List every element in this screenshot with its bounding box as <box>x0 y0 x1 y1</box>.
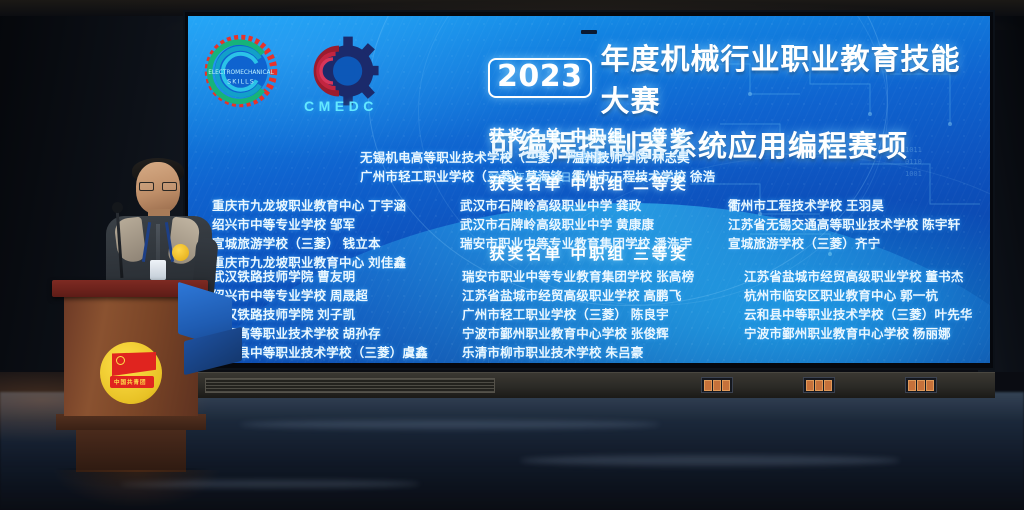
podium-foot <box>76 428 186 472</box>
award-row: 武汉铁路技师学院 曹友明 瑞安市职业中等专业教育集团学校 张高榜 江苏省盐城市经… <box>188 268 990 287</box>
award-entry: 云和县中等职业技术学校（三菱）叶先华 <box>744 306 973 325</box>
award-entry: 无锡机电高等职业技术学校（三菱） 严梓豪 <box>360 149 572 168</box>
microphone-head-icon <box>112 202 123 213</box>
led-screen: 101101101001 ELECTROMECHANICAL <box>188 16 990 363</box>
screen-content: ELECTROMECHANICAL SKILLS <box>188 16 990 363</box>
emblem-name-bar: 中国共青团 <box>110 376 154 388</box>
award-row: 绍兴市中等专业学校 邹军 武汉市石牌岭高级职业中学 黄康康 江苏省无锡交通高等职… <box>188 216 990 235</box>
award-entry: 温州技师学院 林志昊 <box>572 149 772 168</box>
award-entry: 武汉市石牌岭高级职业中学 黄康康 <box>460 216 728 235</box>
year-badge: 2023 <box>488 58 592 98</box>
award-row: 重庆市九龙坡职业教育中心 丁宇涵 武汉市石牌岭高级职业中学 龚政 衢州市工程技术… <box>188 197 990 216</box>
award-entry: 江苏省无锡交通高等职业技术学校 陈宇轩 <box>728 216 960 235</box>
vest-logo-icon <box>172 244 189 261</box>
award-entry: 镇江高等职业技术学校 胡孙存 <box>212 325 462 344</box>
communist-youth-league-emblem: 中国共青团 <box>100 342 162 404</box>
award-entry: 武汉铁路技师学院 曹友明 <box>212 268 462 287</box>
award-row: 武汉铁路技师学院 刘子凯 广州市轻工职业学校（三菱） 陈良宇 云和县中等职业技术… <box>188 306 990 325</box>
award-entry: 瑞安市职业中等专业教育集团学校 张高榜 <box>462 268 744 287</box>
logo-text-line1: ELECTROMECHANICAL <box>208 70 274 76</box>
emblem-text: 中国共青团 <box>114 378 147 386</box>
under-screen-equipment-panel <box>183 372 995 398</box>
power-socket <box>803 377 835 393</box>
award-heading-third: 获奖名单 中职组 三等奖 <box>188 242 990 264</box>
award-row: 云和县中等职业技术学校（三菱）虞鑫 乐清市柳市职业技术学校 朱吕豪 <box>188 344 990 363</box>
award-entry: 重庆市九龙坡职业教育中心 丁宇涵 <box>212 197 460 216</box>
award-heading-first: 获奖名单 中职组 一等奖 <box>188 124 990 146</box>
award-rows-third: 武汉铁路技师学院 曹友明 瑞安市职业中等专业教育集团学校 张高榜 江苏省盐城市经… <box>188 268 990 363</box>
award-entry: 宁波市鄞州职业教育中心学校 杨丽娜 <box>744 325 951 344</box>
award-entry: 衢州市工程技术学校 王羽昊 <box>728 197 884 216</box>
logo-text-line2: SKILLS <box>227 78 255 85</box>
auditorium-scene: 101101101001 ELECTROMECHANICAL <box>0 0 1024 510</box>
award-entry: 乐清市柳市职业技术学校 朱吕豪 <box>462 344 744 363</box>
award-entry: 杭州市临安区职业教育中心 郭一杭 <box>744 287 938 306</box>
award-entry: 绍兴市中等专业学校 邹军 <box>212 216 460 235</box>
laptop-on-podium <box>178 290 242 368</box>
award-entry: 江苏省盐城市经贸高级职业学校 董书杰 <box>744 268 964 287</box>
award-entry: 绍兴市中等专业学校 周晟超 <box>212 287 462 306</box>
award-entry: 武汉铁路技师学院 刘子凯 <box>212 306 462 325</box>
power-socket <box>701 377 733 393</box>
power-socket <box>905 377 937 393</box>
award-entry: 江苏省盐城市经贸高级职业学校 高鹏飞 <box>462 287 744 306</box>
glasses-icon <box>139 182 177 191</box>
emblem-star-icon <box>116 356 125 365</box>
award-entry: 武汉市石牌岭高级职业中学 龚政 <box>460 197 728 216</box>
floor-streak <box>520 455 900 466</box>
award-entry: 广州市轻工职业学校（三菱） 陈良宇 <box>462 306 744 325</box>
award-row: 绍兴市中等专业学校 周晟超 江苏省盐城市经贸高级职业学校 高鹏飞 杭州市临安区职… <box>188 287 990 306</box>
cmedc-caption: CMEDC <box>304 98 378 114</box>
floor-streak <box>240 420 660 429</box>
award-entry: 宁波市鄞州职业教育中心学校 张俊辉 <box>462 325 744 344</box>
title-line1-row: 2023 年度机械行业职业教育技能大赛 <box>488 36 990 120</box>
award-entry: 云和县中等职业技术学校（三菱）虞鑫 <box>212 344 462 363</box>
award-section-third: 获奖名单 中职组 三等奖 武汉铁路技师学院 曹友明 瑞安市职业中等专业教育集团学… <box>188 242 990 363</box>
vent-grille <box>205 378 495 393</box>
podium-floor-light <box>52 470 222 508</box>
award-row: 无锡机电高等职业技术学校（三菱） 严梓豪 温州技师学院 林志昊 <box>188 149 990 168</box>
award-row: 镇江高等职业技术学校 胡孙存 宁波市鄞州职业教育中心学校 张俊辉 宁波市鄞州职业… <box>188 325 990 344</box>
electromechanical-skills-logo: ELECTROMECHANICAL SKILLS <box>202 32 280 110</box>
id-badge <box>150 260 166 280</box>
award-heading-second: 获奖名单 中职组 二等奖 <box>188 172 990 194</box>
podium-base <box>56 414 206 430</box>
title-line1: 年度机械行业职业教育技能大赛 <box>601 36 991 120</box>
